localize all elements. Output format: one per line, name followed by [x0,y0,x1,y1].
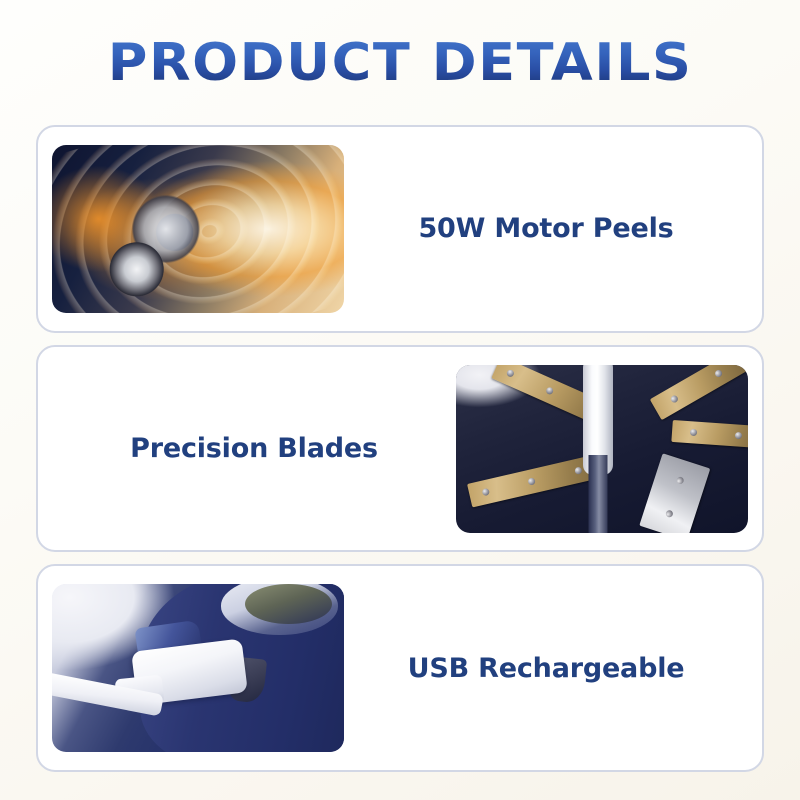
feature-card-usb[interactable]: USB Rechargeable [36,564,764,772]
blade-disc-photo [456,365,748,533]
usb-charging-port-photo [52,584,344,752]
feature-label-motor: 50W Motor Peels [344,213,748,244]
screw-icon [714,368,724,378]
screw-icon [527,477,535,485]
screw-icon [481,487,489,495]
screw-icon [735,432,742,439]
screw-icon [545,386,554,395]
blade-plate-steel [639,453,710,532]
blade-plate [467,454,600,506]
feature-card-motor[interactable]: 50W Motor Peels [36,125,764,333]
screw-icon [669,394,679,404]
blade-plate [649,365,747,420]
usb-artwork [52,584,344,752]
center-post-base [588,455,607,532]
blades-artwork [456,365,748,533]
product-details-page: PRODUCT DETAILS 50W Motor Peels [0,0,800,800]
screw-icon [689,429,696,436]
screw-icon [506,368,515,377]
feature-card-blades[interactable]: Precision Blades [36,345,764,553]
motor-artwork [52,145,344,313]
page-title: PRODUCT DETAILS [108,37,693,89]
page-title-container: PRODUCT DETAILS [0,0,800,125]
feature-card-list: 50W Motor Peels [0,125,800,800]
screw-icon [665,510,674,519]
motor-assembly-photo [52,145,344,313]
screw-icon [676,476,685,485]
feature-label-usb: USB Rechargeable [344,653,748,684]
blade-plate [671,420,748,448]
feature-label-blades: Precision Blades [52,433,456,464]
screw-icon [574,466,582,474]
